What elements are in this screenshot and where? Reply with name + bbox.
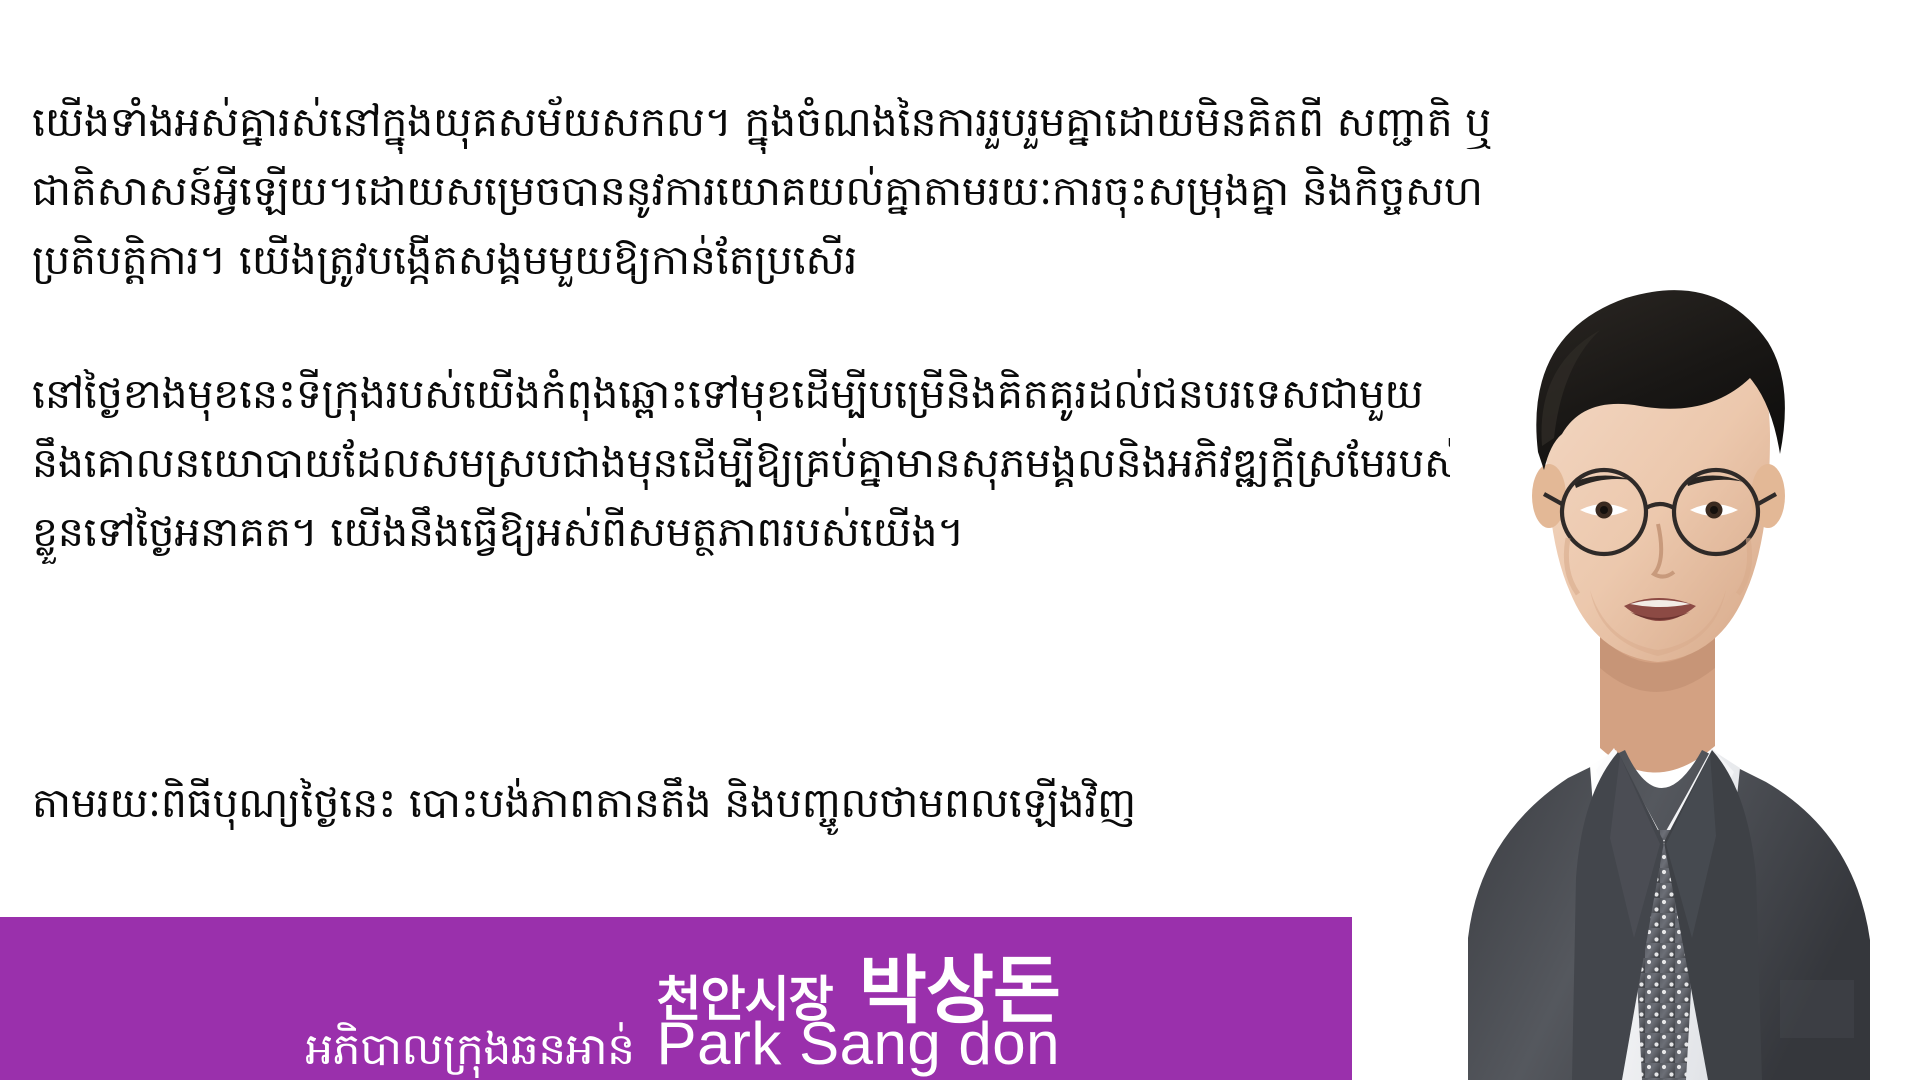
name-banner: 천안시장 박상돈 អភិបាលក្រុងឆនអាន់ Park Sang don bbox=[0, 917, 1352, 1080]
message-paragraph-1: យើងទាំងអស់គ្នារស់នៅក្នុងយុគសម័យសកល។ ក្នុ… bbox=[32, 88, 1502, 295]
message-paragraph-3-line-1: តាមរយៈពិធីបុណ្យថ្ងៃនេះ បោះបង់ភាពតានតឹង ន… bbox=[32, 769, 1362, 838]
banner-person-name-en: Park Sang don bbox=[657, 1009, 1060, 1078]
portrait-illustration bbox=[1450, 238, 1920, 1080]
paragraph-spacer bbox=[32, 567, 1532, 631]
portrait-photo bbox=[1450, 238, 1920, 1080]
message-paragraph-2: នៅថ្ងៃខាងមុខនេះទីក្រុងរបស់យើងកំពុងឆ្ពោះទ… bbox=[32, 360, 1472, 567]
banner-office-title-km: អភិបាលក្រុងឆនអាន់ bbox=[305, 1022, 634, 1080]
greeting-card: យើងទាំងអស់គ្នារស់នៅក្នុងយុគសម័យសកល។ ក្នុ… bbox=[0, 0, 1920, 1080]
banner-line-khmer-latin: អភិបាលក្រុងឆនអាន់ Park Sang don bbox=[305, 1009, 1060, 1080]
paragraph-spacer bbox=[32, 295, 1532, 360]
